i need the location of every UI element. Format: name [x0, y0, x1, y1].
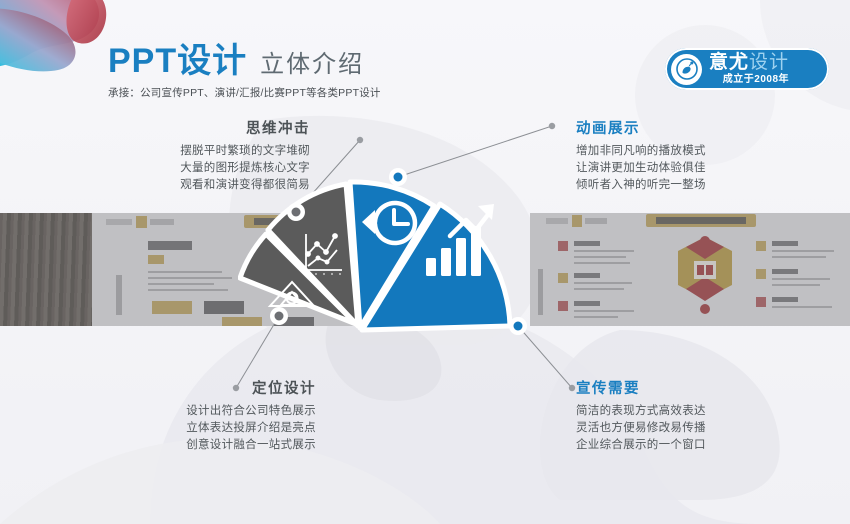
callout-title: 思维冲击 [84, 122, 310, 137]
callout-body: 增加非同凡响的播放模式 让演讲更加生动体验俱佳 倾听者入神的听完一整场 [576, 143, 802, 194]
wood-photo-strip [0, 213, 92, 326]
page-description: 承接：公司宣传PPT、演讲/汇报/比赛PPT等各类PPT设计 [108, 85, 381, 100]
callout-line: 倾听者入神的听完一整场 [576, 177, 802, 194]
callout-line: 观看和演讲变得都很简易 [84, 177, 310, 194]
fan-node-top[interactable] [389, 168, 407, 186]
page-subtitle: 立体介绍 [260, 52, 364, 78]
callout-title: 动画展示 [576, 122, 802, 137]
callout-line: 摆脱平时繁琐的文字堆砌 [84, 143, 310, 160]
callout-title: 宣传需要 [576, 382, 808, 397]
fan-node-bottomleft[interactable] [270, 307, 288, 325]
callout-line: 大量的图形提炼核心文字 [84, 160, 310, 177]
callout-line: 简洁的表现方式高效表达 [576, 403, 808, 420]
callout-dong-hua-zhan-shi: 动画展示 增加非同凡响的播放模式 让演讲更加生动体验俱佳 倾听者入神的听完一整场 [576, 122, 802, 194]
callout-xuan-chuan-xu-yao: 宣传需要 简洁的表现方式高效表达 灵活也方便易修改易传播 企业综合展示的一个窗口 [576, 382, 808, 454]
logo-established: 成立于2008年 [709, 75, 789, 85]
callout-line: 设计出符合公司特色展示 [84, 403, 316, 420]
page-header: PPT设计 立体介绍 承接：公司宣传PPT、演讲/汇报/比赛PPT等各类PPT设… [108, 44, 381, 100]
callout-title: 定位设计 [84, 382, 316, 397]
logo-name-bold: 意尤 [709, 52, 749, 73]
callout-body: 简洁的表现方式高效表达 灵活也方便易修改易传播 企业综合展示的一个窗口 [576, 403, 808, 454]
callout-ding-wei-she-ji: 定位设计 设计出符合公司特色展示 立体表达投屏介绍是亮点 创意设计融合一站式展示 [84, 382, 316, 454]
callout-line: 增加非同凡响的播放模式 [576, 143, 802, 160]
logo-name-light: 设计 [749, 52, 789, 73]
callout-line: 创意设计融合一站式展示 [84, 437, 316, 454]
callout-body: 摆脱平时繁琐的文字堆砌 大量的图形提炼核心文字 观看和演讲变得都很简易 [84, 143, 310, 194]
callout-line: 灵活也方便易修改易传播 [576, 420, 808, 437]
callout-line: 立体表达投屏介绍是亮点 [84, 420, 316, 437]
brand-logo[interactable]: 意尤设计 成立于2008年 [665, 48, 829, 90]
ppt-slide-thumbnail-right [530, 213, 850, 326]
slide-canvas: PPT设计 立体介绍 承接：公司宣传PPT、演讲/汇报/比赛PPT等各类PPT设… [0, 0, 850, 524]
fan-node-bottomright[interactable] [509, 317, 527, 335]
callout-line: 让演讲更加生动体验俱佳 [576, 160, 802, 177]
callout-line: 企业综合展示的一个窗口 [576, 437, 808, 454]
page-title: PPT设计 [108, 44, 247, 78]
fan-node-topleft[interactable] [287, 203, 305, 221]
callout-body: 设计出符合公司特色展示 立体表达投屏介绍是亮点 创意设计融合一站式展示 [84, 403, 316, 454]
callout-si-wei-chong-ji: 思维冲击 摆脱平时繁琐的文字堆砌 大量的图形提炼核心文字 观看和演讲变得都很简易 [84, 122, 310, 194]
mouse-icon [671, 54, 702, 85]
